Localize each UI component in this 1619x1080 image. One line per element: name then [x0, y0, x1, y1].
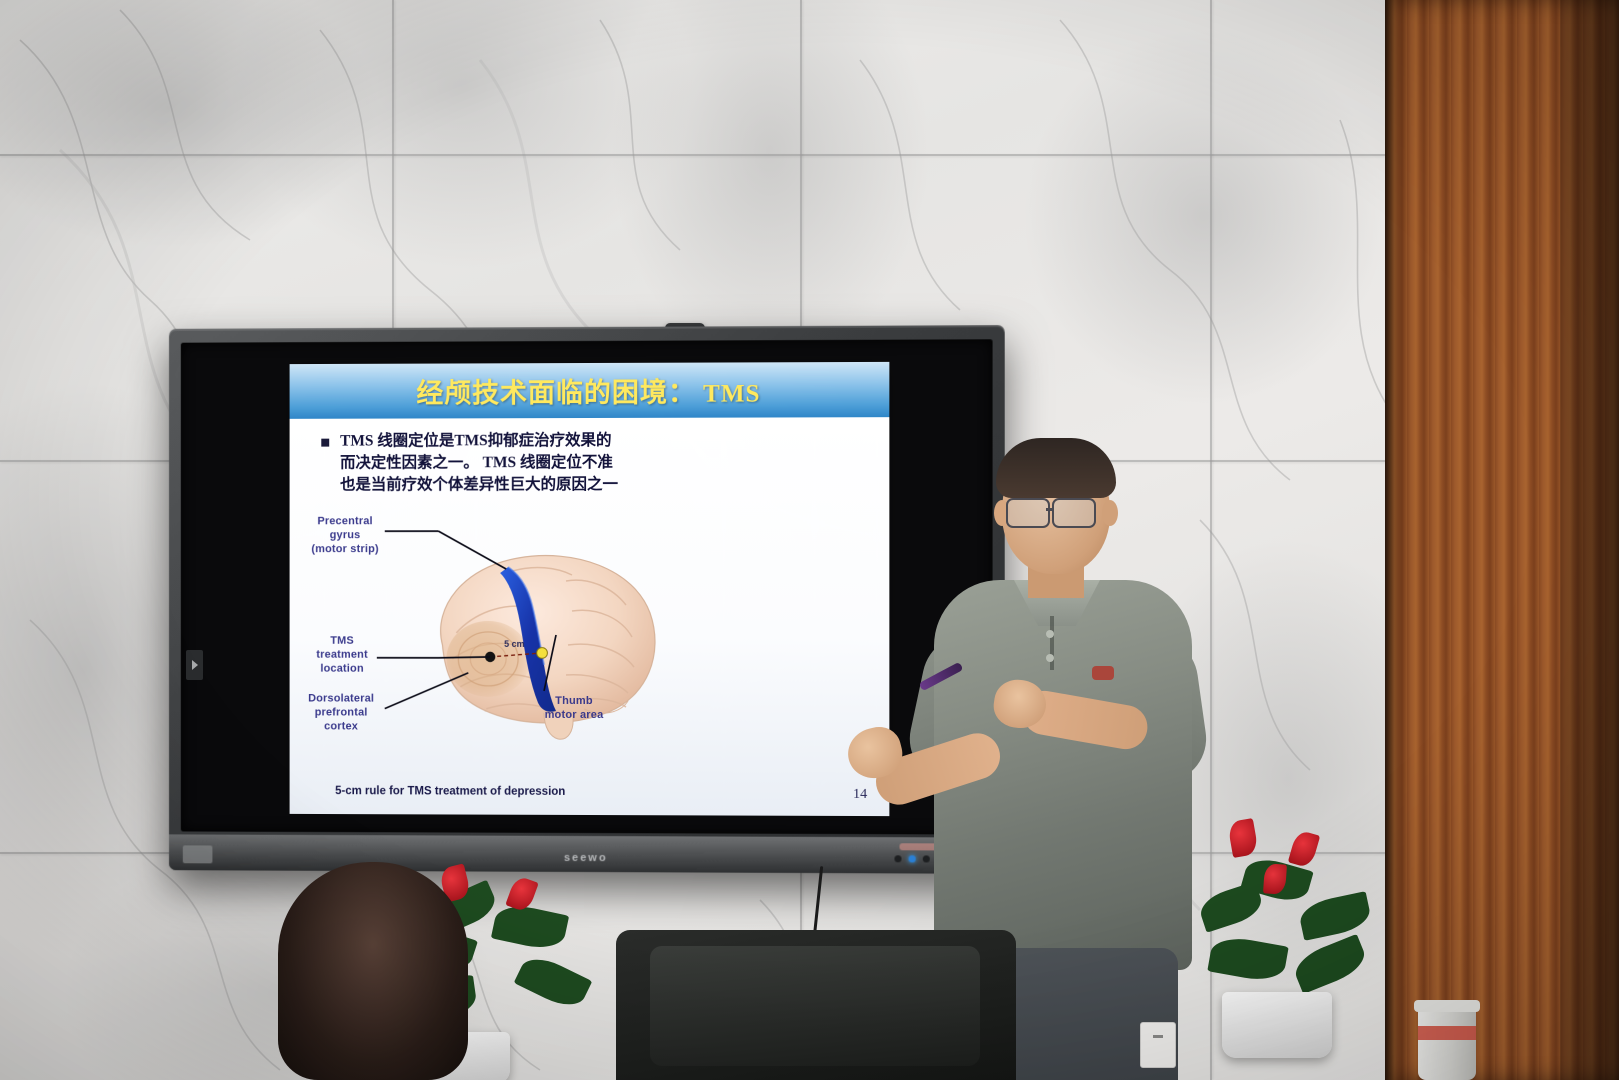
presenter-ear [1102, 500, 1118, 526]
bullet-line-1: TMS 线圈定位是TMS抑郁症治疗效果的 [340, 430, 618, 453]
chevron-right-icon [192, 660, 198, 670]
presentation-slide[interactable]: 经颅技术面临的困境：TMS TMS 线圈定位是TMS抑郁症治疗效果的 而决定性因… [290, 362, 890, 816]
label-line: motor area [532, 709, 616, 723]
label-precentral-gyrus: Precentral gyrus (motor strip) [301, 515, 388, 556]
brain-diagram: 5 cm Precentral gyrus ( [290, 513, 890, 816]
slide-title: 经颅技术面临的困境：TMS [416, 370, 760, 410]
status-light [923, 855, 930, 862]
slide-footer-note: 5-cm rule for TMS treatment of depressio… [335, 785, 565, 798]
paper-cup-band [1418, 1026, 1476, 1040]
presenter-hair [996, 438, 1116, 498]
label-line: Precentral [301, 515, 388, 529]
glasses-lens-left [1006, 498, 1050, 528]
slide-title-cn: 经颅技术面临的困境： [416, 378, 696, 409]
wall-socket[interactable] [1140, 1022, 1176, 1068]
slide-bullet-text: TMS 线圈定位是TMS抑郁症治疗效果的 而决定性因素之一。 TMS 线圈定位不… [340, 430, 618, 496]
slide-content: TMS 线圈定位是TMS抑郁症治疗效果的 而决定性因素之一。 TMS 线圈定位不… [290, 417, 890, 816]
slide-page-number: 14 [853, 787, 867, 803]
chair-backrest [650, 946, 980, 1066]
presentation-scene: seewo 经颅技术面临的困境：TMS [0, 0, 1619, 1080]
bullet-line-2: 而决定性因素之一。 TMS 线圈定位不准 [340, 452, 618, 475]
paper-cup [1418, 1006, 1476, 1080]
label-line: gyrus [301, 529, 388, 543]
label-tms-treatment-location: TMS treatment location [303, 635, 380, 676]
label-line: Thumb [532, 695, 616, 709]
status-light [894, 855, 901, 862]
label-line: prefrontal [296, 706, 387, 720]
shirt-logo [1092, 666, 1114, 680]
socket-slot-icon [1153, 1035, 1163, 1038]
paper-cup-lid [1414, 1000, 1480, 1012]
slide-title-bar: 经颅技术面临的困境：TMS [290, 362, 890, 419]
bullet-line-3: 也是当前疗效个体差异性巨大的原因之一 [340, 474, 618, 496]
slide-bullet-item: TMS 线圈定位是TMS抑郁症治疗效果的 而决定性因素之一。 TMS 线圈定位不… [321, 429, 851, 496]
glasses-bridge [1046, 508, 1054, 511]
label-line: location [303, 662, 380, 676]
label-line: (motor strip) [301, 543, 388, 557]
label-line: treatment [303, 649, 380, 663]
square-bullet-icon [321, 439, 329, 447]
plant-right [1196, 806, 1396, 1080]
flower [1227, 818, 1259, 858]
label-line: cortex [296, 720, 387, 734]
slide-title-en: TMS [703, 380, 760, 407]
audience-head [278, 862, 468, 1080]
status-light-power[interactable] [909, 855, 916, 862]
flower [1288, 829, 1320, 868]
shirt-button [1046, 654, 1054, 662]
label-line: TMS [303, 635, 380, 649]
tile-seam [0, 154, 1400, 156]
label-line: Dorsolateral [296, 693, 387, 707]
shirt-button [1046, 630, 1054, 638]
wood-panel-shadow [1560, 0, 1619, 1080]
label-thumb-motor-area: Thumb motor area [532, 695, 616, 723]
glasses-lens-right [1052, 498, 1096, 528]
display-side-button-left[interactable] [186, 650, 203, 680]
label-dorsolateral-prefrontal-cortex: Dorsolateral prefrontal cortex [296, 693, 387, 735]
display-badge [183, 845, 213, 863]
